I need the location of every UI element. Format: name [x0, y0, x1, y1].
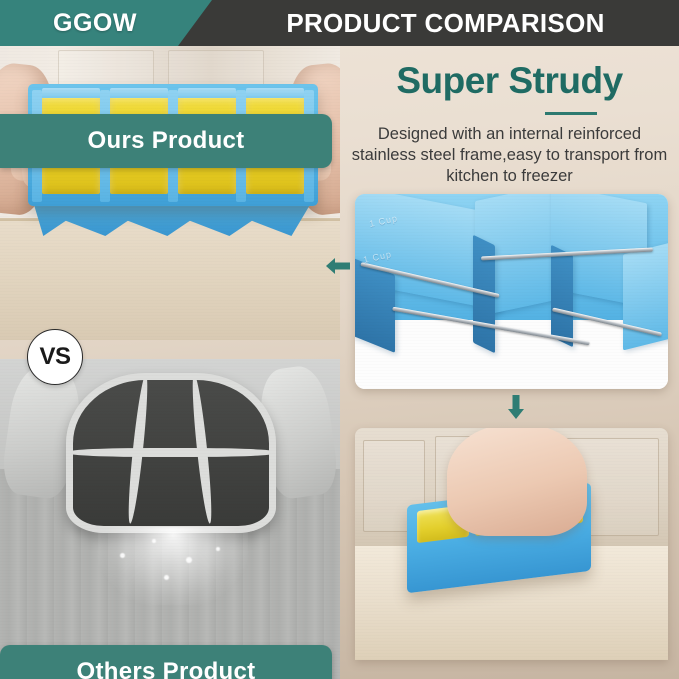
- feature-subtitle: Designed with an internal reinforced sta…: [346, 124, 673, 187]
- liquid-droplet: [120, 553, 125, 558]
- header-bar: GGOW PRODUCT COMPARISON: [0, 0, 679, 46]
- product-comparison-infographic: GGOW PRODUCT COMPARISON: [0, 0, 679, 679]
- single-hand: [447, 428, 587, 536]
- tray-divider: [69, 448, 275, 457]
- brand-logo: GGOW: [0, 0, 190, 46]
- one-handed-photo: [355, 428, 668, 660]
- arrow-down-icon: [506, 395, 526, 419]
- liquid-droplet: [186, 557, 192, 563]
- liquid-droplet: [164, 575, 169, 580]
- right-feature-column: Super Strudy Designed with an internal r…: [340, 46, 679, 679]
- feature-title: Super Strudy: [340, 60, 679, 102]
- liquid-droplet: [216, 547, 220, 551]
- counter-surface: [0, 221, 340, 340]
- title-underline: [545, 112, 597, 115]
- vs-badge: VS: [27, 329, 83, 385]
- spilled-liquid-splash: [98, 527, 248, 605]
- arrow-left-icon: [326, 256, 350, 276]
- liquid-droplet: [152, 539, 156, 543]
- steel-frame-photo: 1 Cup 1 Cup: [355, 194, 668, 389]
- left-comparison-column: Ours Product Others Product VS: [0, 46, 340, 679]
- others-product-photo: [0, 359, 340, 679]
- header-title: PRODUCT COMPARISON: [212, 0, 679, 46]
- tray-wall-shadowed: [551, 245, 573, 348]
- others-product-banner: Others Product: [0, 645, 332, 679]
- competitor-floppy-tray: [66, 373, 276, 533]
- ours-product-photo: [0, 46, 340, 340]
- ours-product-banner: Ours Product: [0, 114, 332, 168]
